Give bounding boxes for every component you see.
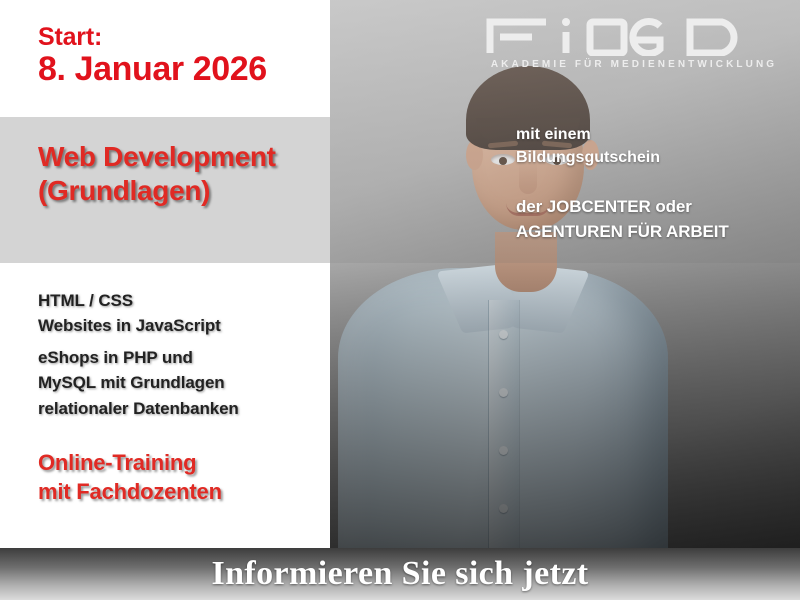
voucher-line-4: AGENTUREN FÜR ARBEIT xyxy=(516,220,729,244)
curriculum-item: HTML / CSS xyxy=(38,288,239,313)
voucher-line-2: Bildungsgutschein xyxy=(516,147,729,170)
start-label: Start: xyxy=(38,24,267,50)
curriculum-item: MySQL mit Grundlagen xyxy=(38,370,239,395)
start-date-block: Start: 8. Januar 2026 xyxy=(38,24,267,88)
online-training-line-2: mit Fachdozenten xyxy=(38,477,222,506)
voucher-line-3: der JOBCENTER oder xyxy=(516,195,729,219)
photo-tint-lower xyxy=(330,263,800,548)
portrait-photo-panel xyxy=(330,0,800,548)
promotional-poster: AKADEMIE FÜR MEDIENENTWICKLUNG Start: 8.… xyxy=(0,0,800,600)
course-title-line-2: (Grundlagen) xyxy=(38,174,276,208)
voucher-line-1: mit einem xyxy=(516,124,729,147)
figd-wordmark-icon xyxy=(484,14,784,56)
online-training-line-1: Online-Training xyxy=(38,448,222,477)
curriculum-item: eShops in PHP und xyxy=(38,345,239,370)
curriculum-item: relationaler Datenbanken xyxy=(38,396,239,421)
figd-logo: AKADEMIE FÜR MEDIENENTWICKLUNG xyxy=(484,14,784,70)
call-to-action-banner: Informieren Sie sich jetzt xyxy=(0,548,800,600)
call-to-action-text: Informieren Sie sich jetzt xyxy=(211,555,588,593)
figd-logo-dot xyxy=(562,18,570,26)
online-training-block: Online-Training mit Fachdozenten xyxy=(38,448,222,507)
curriculum-item: Websites in JavaScript xyxy=(38,313,239,338)
voucher-spacer xyxy=(516,169,729,195)
curriculum-list: HTML / CSS Websites in JavaScript eShops… xyxy=(38,288,239,421)
course-title-line-1: Web Development xyxy=(38,140,276,174)
course-title: Web Development (Grundlagen) xyxy=(38,140,276,208)
figd-logo-subtitle: AKADEMIE FÜR MEDIENENTWICKLUNG xyxy=(484,59,784,70)
start-date-value: 8. Januar 2026 xyxy=(38,51,267,88)
voucher-info-block: mit einem Bildungsgutschein der JOBCENTE… xyxy=(516,124,729,244)
